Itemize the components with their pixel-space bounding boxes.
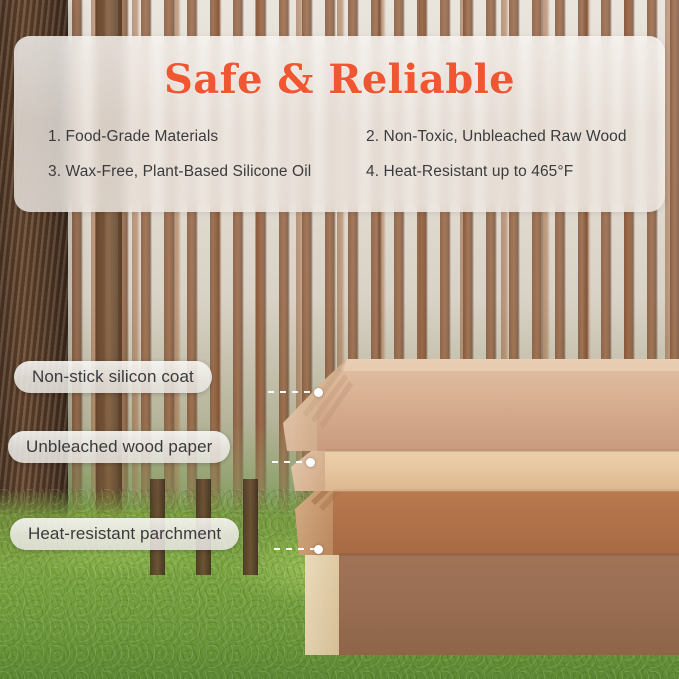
product-seam [333, 489, 679, 492]
callout-connector-2 [272, 461, 308, 463]
callout-endpoint-dot-3 [314, 545, 323, 554]
feature-row: 3. Wax-Free, Plant-Based Silicone Oil 4.… [48, 163, 641, 181]
feature-item-2: 2. Non-Toxic, Unbleached Raw Wood [366, 128, 641, 146]
callout-endpoint-dot-2 [306, 458, 315, 467]
callout-endpoint-dot-1 [314, 388, 323, 397]
callout-connector-1 [268, 391, 316, 393]
product-seam [339, 553, 679, 556]
callout-label-heat-resistant-parchment: Heat-resistant parchment [10, 518, 239, 550]
forest-trunk-stub [243, 479, 258, 575]
headline-banner: Safe & Reliable 1. Food-Grade Materials … [14, 36, 665, 212]
infographic-canvas: Safe & Reliable 1. Food-Grade Materials … [0, 0, 679, 679]
callout-connector-3 [274, 548, 316, 550]
page-title: Safe & Reliable [14, 56, 665, 103]
feature-list: 1. Food-Grade Materials 2. Non-Toxic, Un… [48, 128, 641, 198]
product-rim-highlight [343, 359, 679, 371]
product-image-paper-pan [281, 255, 679, 655]
callout-label-non-stick-silicon-coat: Non-stick silicon coat [14, 361, 212, 393]
feature-row: 1. Food-Grade Materials 2. Non-Toxic, Un… [48, 128, 641, 146]
feature-item-3: 3. Wax-Free, Plant-Based Silicone Oil [48, 163, 366, 181]
product-layer-top-rim [317, 359, 679, 451]
feature-item-1: 1. Food-Grade Materials [48, 128, 366, 146]
product-seam [325, 449, 679, 452]
callout-label-unbleached-wood-paper: Unbleached wood paper [8, 431, 230, 463]
feature-item-4: 4. Heat-Resistant up to 465°F [366, 163, 641, 181]
